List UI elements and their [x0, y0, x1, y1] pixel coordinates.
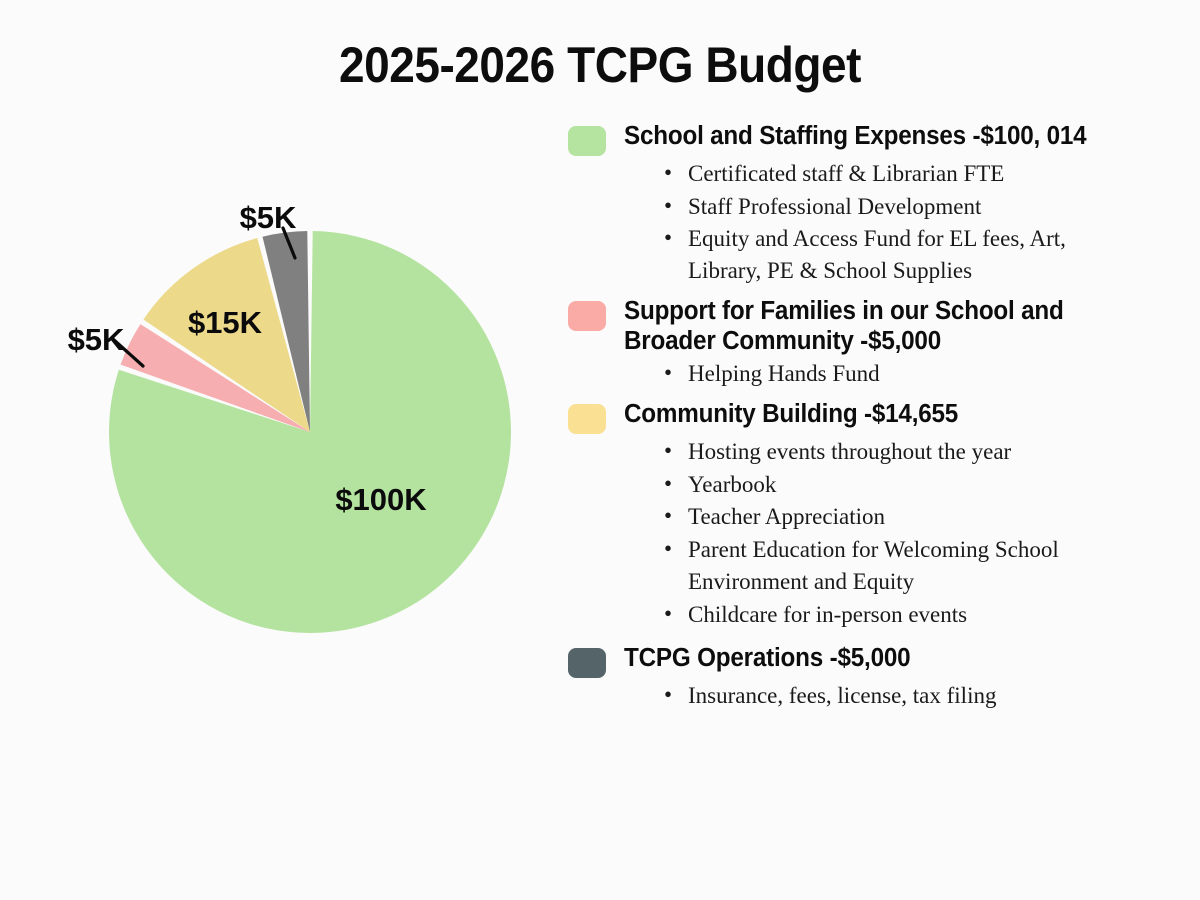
- list-item: Hosting events throughout the year: [664, 436, 1128, 468]
- list-item: Staff Professional Development: [664, 191, 1128, 223]
- legend-item-community-building[interactable]: Community Building -$14,655 Hosting even…: [568, 400, 1188, 630]
- legend-item-tcpg-operations[interactable]: TCPG Operations -$5,000 Insurance, fees,…: [568, 644, 1188, 712]
- list-item: Teacher Appreciation: [664, 501, 1128, 533]
- pie-data-label: $5K: [68, 322, 125, 357]
- legend-header: Support for Families in our School and B…: [568, 297, 1188, 356]
- pie-chart-panel: $100K$5K$15K$5K: [0, 150, 560, 730]
- legend-color-swatch-icon: [568, 301, 606, 331]
- legend-item-school-and-staffing-expenses[interactable]: School and Staffing Expenses -$100, 014 …: [568, 122, 1188, 287]
- list-item: Helping Hands Fund: [664, 358, 1128, 390]
- legend-item-support-for-families[interactable]: Support for Families in our School and B…: [568, 297, 1188, 390]
- list-item: Childcare for in-person events: [664, 599, 1128, 631]
- legend-header: TCPG Operations -$5,000: [568, 644, 1188, 678]
- list-item: Parent Education for Welcoming School En…: [664, 534, 1128, 597]
- legend-color-swatch-icon: [568, 648, 606, 678]
- legend-bullet-list: Insurance, fees, license, tax filing: [568, 680, 1188, 712]
- legend-header: School and Staffing Expenses -$100, 014: [568, 122, 1188, 156]
- legend-bullet-list: Hosting events throughout the year Yearb…: [568, 436, 1188, 630]
- list-item: Yearbook: [664, 469, 1128, 501]
- legend-color-swatch-icon: [568, 126, 606, 156]
- legend-title: Support for Families in our School and B…: [624, 297, 1156, 356]
- pie-data-label: $100K: [335, 482, 427, 517]
- pie-slice-group: [109, 231, 511, 633]
- legend-bullet-list: Helping Hands Fund: [568, 358, 1188, 390]
- list-item: Certificated staff & Librarian FTE: [664, 158, 1128, 190]
- legend-header: Community Building -$14,655: [568, 400, 1188, 434]
- legend-title: TCPG Operations -$5,000: [624, 644, 910, 674]
- page-title: 2025-2026 TCPG Budget: [48, 38, 1152, 93]
- legend-title: Community Building -$14,655: [624, 400, 958, 430]
- legend-bullet-list: Certificated staff & Librarian FTE Staff…: [568, 158, 1188, 287]
- pie-chart: $100K$5K$15K$5K: [0, 150, 560, 730]
- list-item: Insurance, fees, license, tax filing: [664, 680, 1128, 712]
- legend: School and Staffing Expenses -$100, 014 …: [568, 122, 1188, 714]
- list-item: Equity and Access Fund for EL fees, Art,…: [664, 223, 1128, 286]
- legend-title: School and Staffing Expenses -$100, 014: [624, 122, 1086, 152]
- legend-color-swatch-icon: [568, 404, 606, 434]
- pie-data-label: $15K: [188, 305, 263, 340]
- pie-data-label: $5K: [240, 200, 297, 235]
